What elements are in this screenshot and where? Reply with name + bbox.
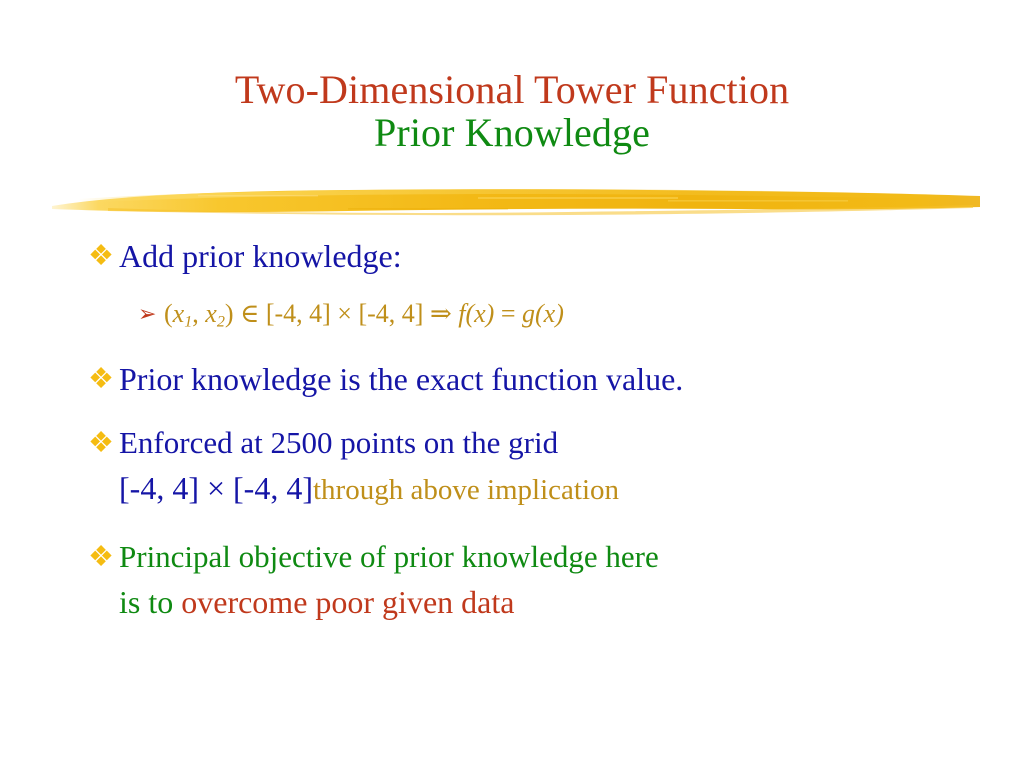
continuation-text-green: is to: [119, 584, 181, 620]
formula-member-operator: ∈: [234, 299, 266, 328]
bullet-principal-objective-continuation: is to overcome poor given data: [119, 579, 988, 625]
formula-close-paren: ): [225, 299, 234, 328]
title-line-1: Two-Dimensional Tower Function: [0, 68, 1024, 111]
formula-comma: ,: [192, 299, 205, 328]
formula-equals: =: [494, 299, 522, 328]
bullet-prior-knowledge-exact: ❖ Prior knowledge is the exact function …: [88, 357, 988, 401]
formula-function-g: g: [522, 299, 535, 328]
formula-sub-2: 2: [217, 314, 225, 331]
bullet-text: Principal objective of prior knowledge h…: [119, 535, 988, 579]
brush-stroke-divider: [48, 178, 984, 224]
formula-var-x1: x: [173, 299, 185, 328]
diamond-bullet-icon: ❖: [88, 234, 119, 278]
diamond-bullet-icon: ❖: [88, 535, 119, 579]
bullet-text: Prior knowledge is the exact function va…: [119, 357, 988, 401]
formula-function-g-arg: (x): [535, 299, 564, 328]
diamond-bullet-icon: ❖: [88, 421, 119, 465]
formula-function-f-arg: (x): [465, 299, 494, 328]
formula-var-x2: x: [205, 299, 217, 328]
formula-implies-operator: ⇒: [423, 299, 458, 328]
formula-interval-1: [-4, 4]: [266, 299, 331, 328]
arrow-bullet-icon: ➢: [138, 294, 164, 334]
title-line-2: Prior Knowledge: [0, 111, 1024, 154]
sub-bullet-domain-implication: ➢ (x1, x2) ∈ [-4, 4] × [-4, 4] ⇒ f(x) = …: [138, 294, 988, 343]
bullet-text: Enforced at 2500 points on the grid: [119, 421, 988, 465]
diamond-bullet-icon: ❖: [88, 357, 119, 401]
continuation-text-red: overcome poor given data: [181, 584, 514, 620]
formula-times-operator: ×: [331, 299, 359, 328]
slide-body: ❖ Add prior knowledge: ➢ (x1, x2) ∈ [-4,…: [88, 234, 988, 625]
bullet-enforced-points-continuation: [-4, 4] × [-4, 4]through above implicati…: [119, 465, 988, 513]
bullet-enforced-points: ❖ Enforced at 2500 points on the grid: [88, 421, 988, 465]
bullet-principal-objective: ❖ Principal objective of prior knowledge…: [88, 535, 988, 579]
slide-title: Two-Dimensional Tower Function Prior Kno…: [0, 68, 1024, 154]
formula-interval-2: [-4, 4]: [358, 299, 423, 328]
continuation-note: through above implication: [313, 474, 619, 506]
slide: Two-Dimensional Tower Function Prior Kno…: [0, 0, 1024, 768]
formula-open-paren: (: [164, 299, 173, 328]
continuation-interval: [-4, 4] × [-4, 4]: [119, 470, 313, 506]
bullet-add-prior-knowledge: ❖ Add prior knowledge:: [88, 234, 988, 278]
formula-domain-implication: (x1, x2) ∈ [-4, 4] × [-4, 4] ⇒ f(x) = g(…: [164, 294, 988, 343]
bullet-text: Add prior knowledge:: [119, 234, 988, 278]
